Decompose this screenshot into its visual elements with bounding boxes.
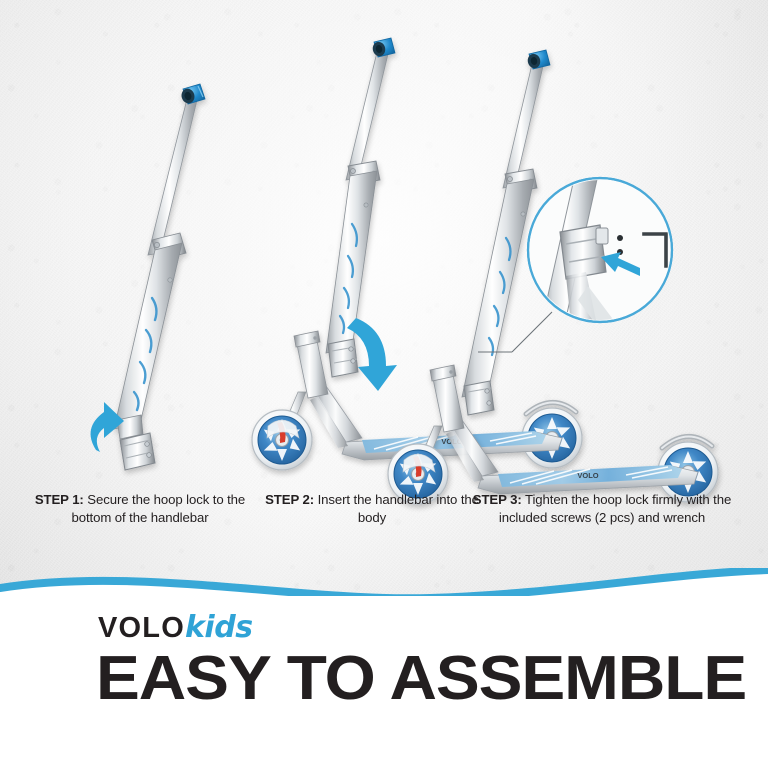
hoop-lock-installed [464, 381, 494, 415]
step-1-caption: STEP 1: Secure the hoop lock to the bott… [16, 491, 264, 526]
step-3-caption: STEP 3: Tighten the hoop lock firmly wit… [462, 491, 742, 526]
hoop-lock-attached [328, 339, 358, 377]
poster-canvas: VOLO [0, 0, 768, 768]
grip-cap-icon [371, 38, 395, 57]
grip-cap-icon [526, 50, 550, 69]
step-captions: STEP 1: Secure the hoop lock to the bott… [0, 487, 768, 577]
logo-kids-text: kids [185, 610, 253, 645]
headline-easy-to-assemble: EASY TO ASSEMBLE [96, 648, 732, 710]
step-1-label: STEP 1: [35, 492, 84, 507]
step-2-label: STEP 2: [265, 492, 314, 507]
hoop-lock-part [120, 433, 155, 470]
logo-volo-text: VOLO [98, 612, 185, 644]
step-3-text: Tighten the hoop lock firmly with the in… [499, 492, 731, 525]
step-1-illustration [114, 84, 205, 470]
hoop-lock-detail-callout [528, 166, 672, 334]
grip-cap-icon [180, 84, 205, 105]
step-2-text: Insert the handlebar into the body [314, 492, 479, 525]
step-2-caption: STEP 2: Insert the handlebar into the bo… [262, 491, 482, 526]
footer-branding: VOLOkids EASY TO ASSEMBLE [0, 596, 768, 768]
step-1-text: Secure the hoop lock to the bottom of th… [72, 492, 246, 525]
volokids-logo: VOLOkids [98, 610, 253, 645]
step-3-label: STEP 3: [473, 492, 522, 507]
